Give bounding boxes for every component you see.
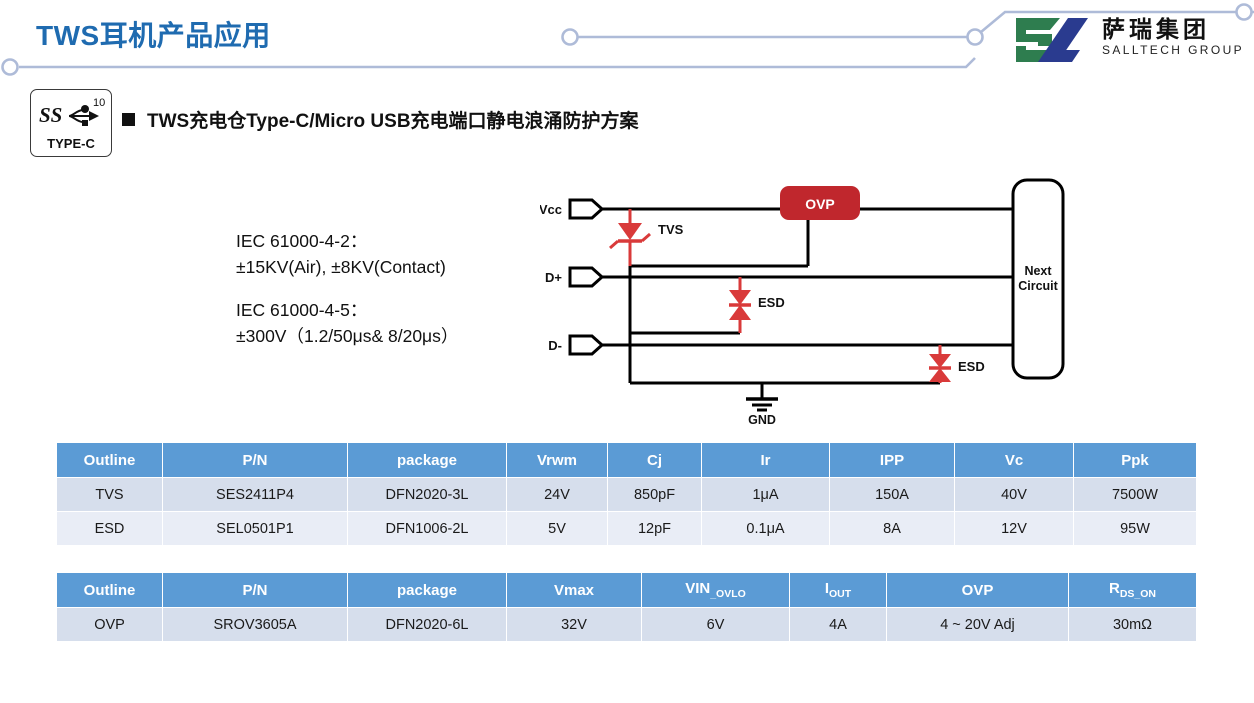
table-row: ESD SEL0501P1 DFN1006-2L 5V 12pF 0.1μA 8… [57,512,1197,546]
page-title: TWS耳机产品应用 [36,14,271,54]
cell-package: DFN1006-2L [348,512,507,546]
iec-4-5-value: ±300V（1.2/50μs& 8/20μs） [236,323,458,349]
ovp-parts-table: Outline P/N package Vmax VIN_OVLO IOUT O… [56,572,1197,642]
th-vrwm: Vrwm [507,443,608,478]
salltech-logo-mark [1012,12,1092,62]
th-iout: IOUT [790,573,887,608]
section-subtitle-text: TWS充电仓Type-C/Micro USB充电端口静电浪涌防护方案 [147,106,639,133]
gnd-symbol [746,399,778,410]
th-vc: Vc [955,443,1074,478]
cell-pn: SES2411P4 [163,478,348,512]
cell-rds-on: 30mΩ [1069,608,1197,642]
next-circuit-label-2: Circuit [1018,279,1058,293]
table-header-row: Outline P/N package Vrwm Cj Ir IPP Vc Pp… [57,443,1197,478]
esd-diode-1 [729,277,751,333]
th-ppk: Ppk [1074,443,1197,478]
brand-logo: 萨瑞集团 SALLTECH GROUP [1012,12,1244,62]
cell-outline: TVS [57,478,163,512]
esd-diode-2 [929,345,951,383]
tvs-diode [610,209,650,266]
th-rds-on: RDS_ON [1069,573,1197,608]
esd-label-1: ESD [758,295,785,310]
th-pn: P/N [163,443,348,478]
protection-circuit-diagram: Vcc D+ D- GND TVS OVP [540,168,1140,428]
bullet-square-icon [122,113,135,126]
cell-vc: 40V [955,478,1074,512]
esd-label-2: ESD [958,359,985,374]
cell-vrwm: 5V [507,512,608,546]
th-package: package [348,443,507,478]
svg-text:10: 10 [93,97,105,109]
cell-ppk: 7500W [1074,478,1197,512]
port-connector-dminus [570,336,602,354]
iec-4-2-value: ±15KV(Air), ±8KV(Contact) [236,254,458,280]
iec-spec-block: IEC 61000-4-2： ±15KV(Air), ±8KV(Contact)… [236,228,458,349]
cell-package: DFN2020-3L [348,478,507,512]
cell-vrwm: 24V [507,478,608,512]
usb-superspeed-typec-icon: SS 10 [31,92,109,136]
cell-outline: ESD [57,512,163,546]
cell-vin-ovlo: 6V [642,608,790,642]
cell-ovp: 4 ~ 20V Adj [887,608,1069,642]
cell-pn: SROV3605A [163,608,348,642]
cell-ipp: 8A [830,512,955,546]
table-header-row: Outline P/N package Vmax VIN_OVLO IOUT O… [57,573,1197,608]
next-circuit-label-1: Next [1024,264,1052,278]
port-connector-dplus [570,268,602,286]
th-vmax: Vmax [507,573,642,608]
th-outline: Outline [57,443,163,478]
typec-label: TYPE-C [31,136,111,151]
logo-name-cn: 萨瑞集团 [1102,18,1244,41]
cell-outline: OVP [57,608,163,642]
cell-iout: 4A [790,608,887,642]
th-vin-ovlo: VIN_OVLO [642,573,790,608]
th-outline: Outline [57,573,163,608]
th-cj: Cj [608,443,702,478]
iec-4-5-title: IEC 61000-4-5： [236,297,458,323]
th-ovp: OVP [887,573,1069,608]
th-ir: Ir [702,443,830,478]
cell-cj: 12pF [608,512,702,546]
cell-ir: 0.1μA [702,512,830,546]
port-connector-vcc [570,200,602,218]
port-label-dminus: D- [548,338,562,353]
cell-vc: 12V [955,512,1074,546]
cell-ipp: 150A [830,478,955,512]
cell-cj: 850pF [608,478,702,512]
cell-ir: 1μA [702,478,830,512]
port-label-vcc: Vcc [540,202,562,217]
cell-package: DFN2020-6L [348,608,507,642]
section-subtitle: TWS充电仓Type-C/Micro USB充电端口静电浪涌防护方案 [122,106,639,133]
iec-4-2-title: IEC 61000-4-2： [236,228,458,254]
table-row: OVP SROV3605A DFN2020-6L 32V 6V 4A 4 ~ 2… [57,608,1197,642]
svg-text:SS: SS [39,103,62,127]
cell-vmax: 32V [507,608,642,642]
logo-name-en: SALLTECH GROUP [1102,44,1244,56]
port-label-dplus: D+ [545,270,562,285]
th-ipp: IPP [830,443,955,478]
table-row: TVS SES2411P4 DFN2020-3L 24V 850pF 1μA 1… [57,478,1197,512]
cell-pn: SEL0501P1 [163,512,348,546]
th-package: package [348,573,507,608]
cell-ppk: 95W [1074,512,1197,546]
gnd-label: GND [748,413,776,427]
th-pn: P/N [163,573,348,608]
tvs-label: TVS [658,222,684,237]
ovp-block-label: OVP [805,196,835,212]
typec-badge: SS 10 TYPE-C [30,89,112,157]
protection-parts-table: Outline P/N package Vrwm Cj Ir IPP Vc Pp… [56,442,1197,546]
